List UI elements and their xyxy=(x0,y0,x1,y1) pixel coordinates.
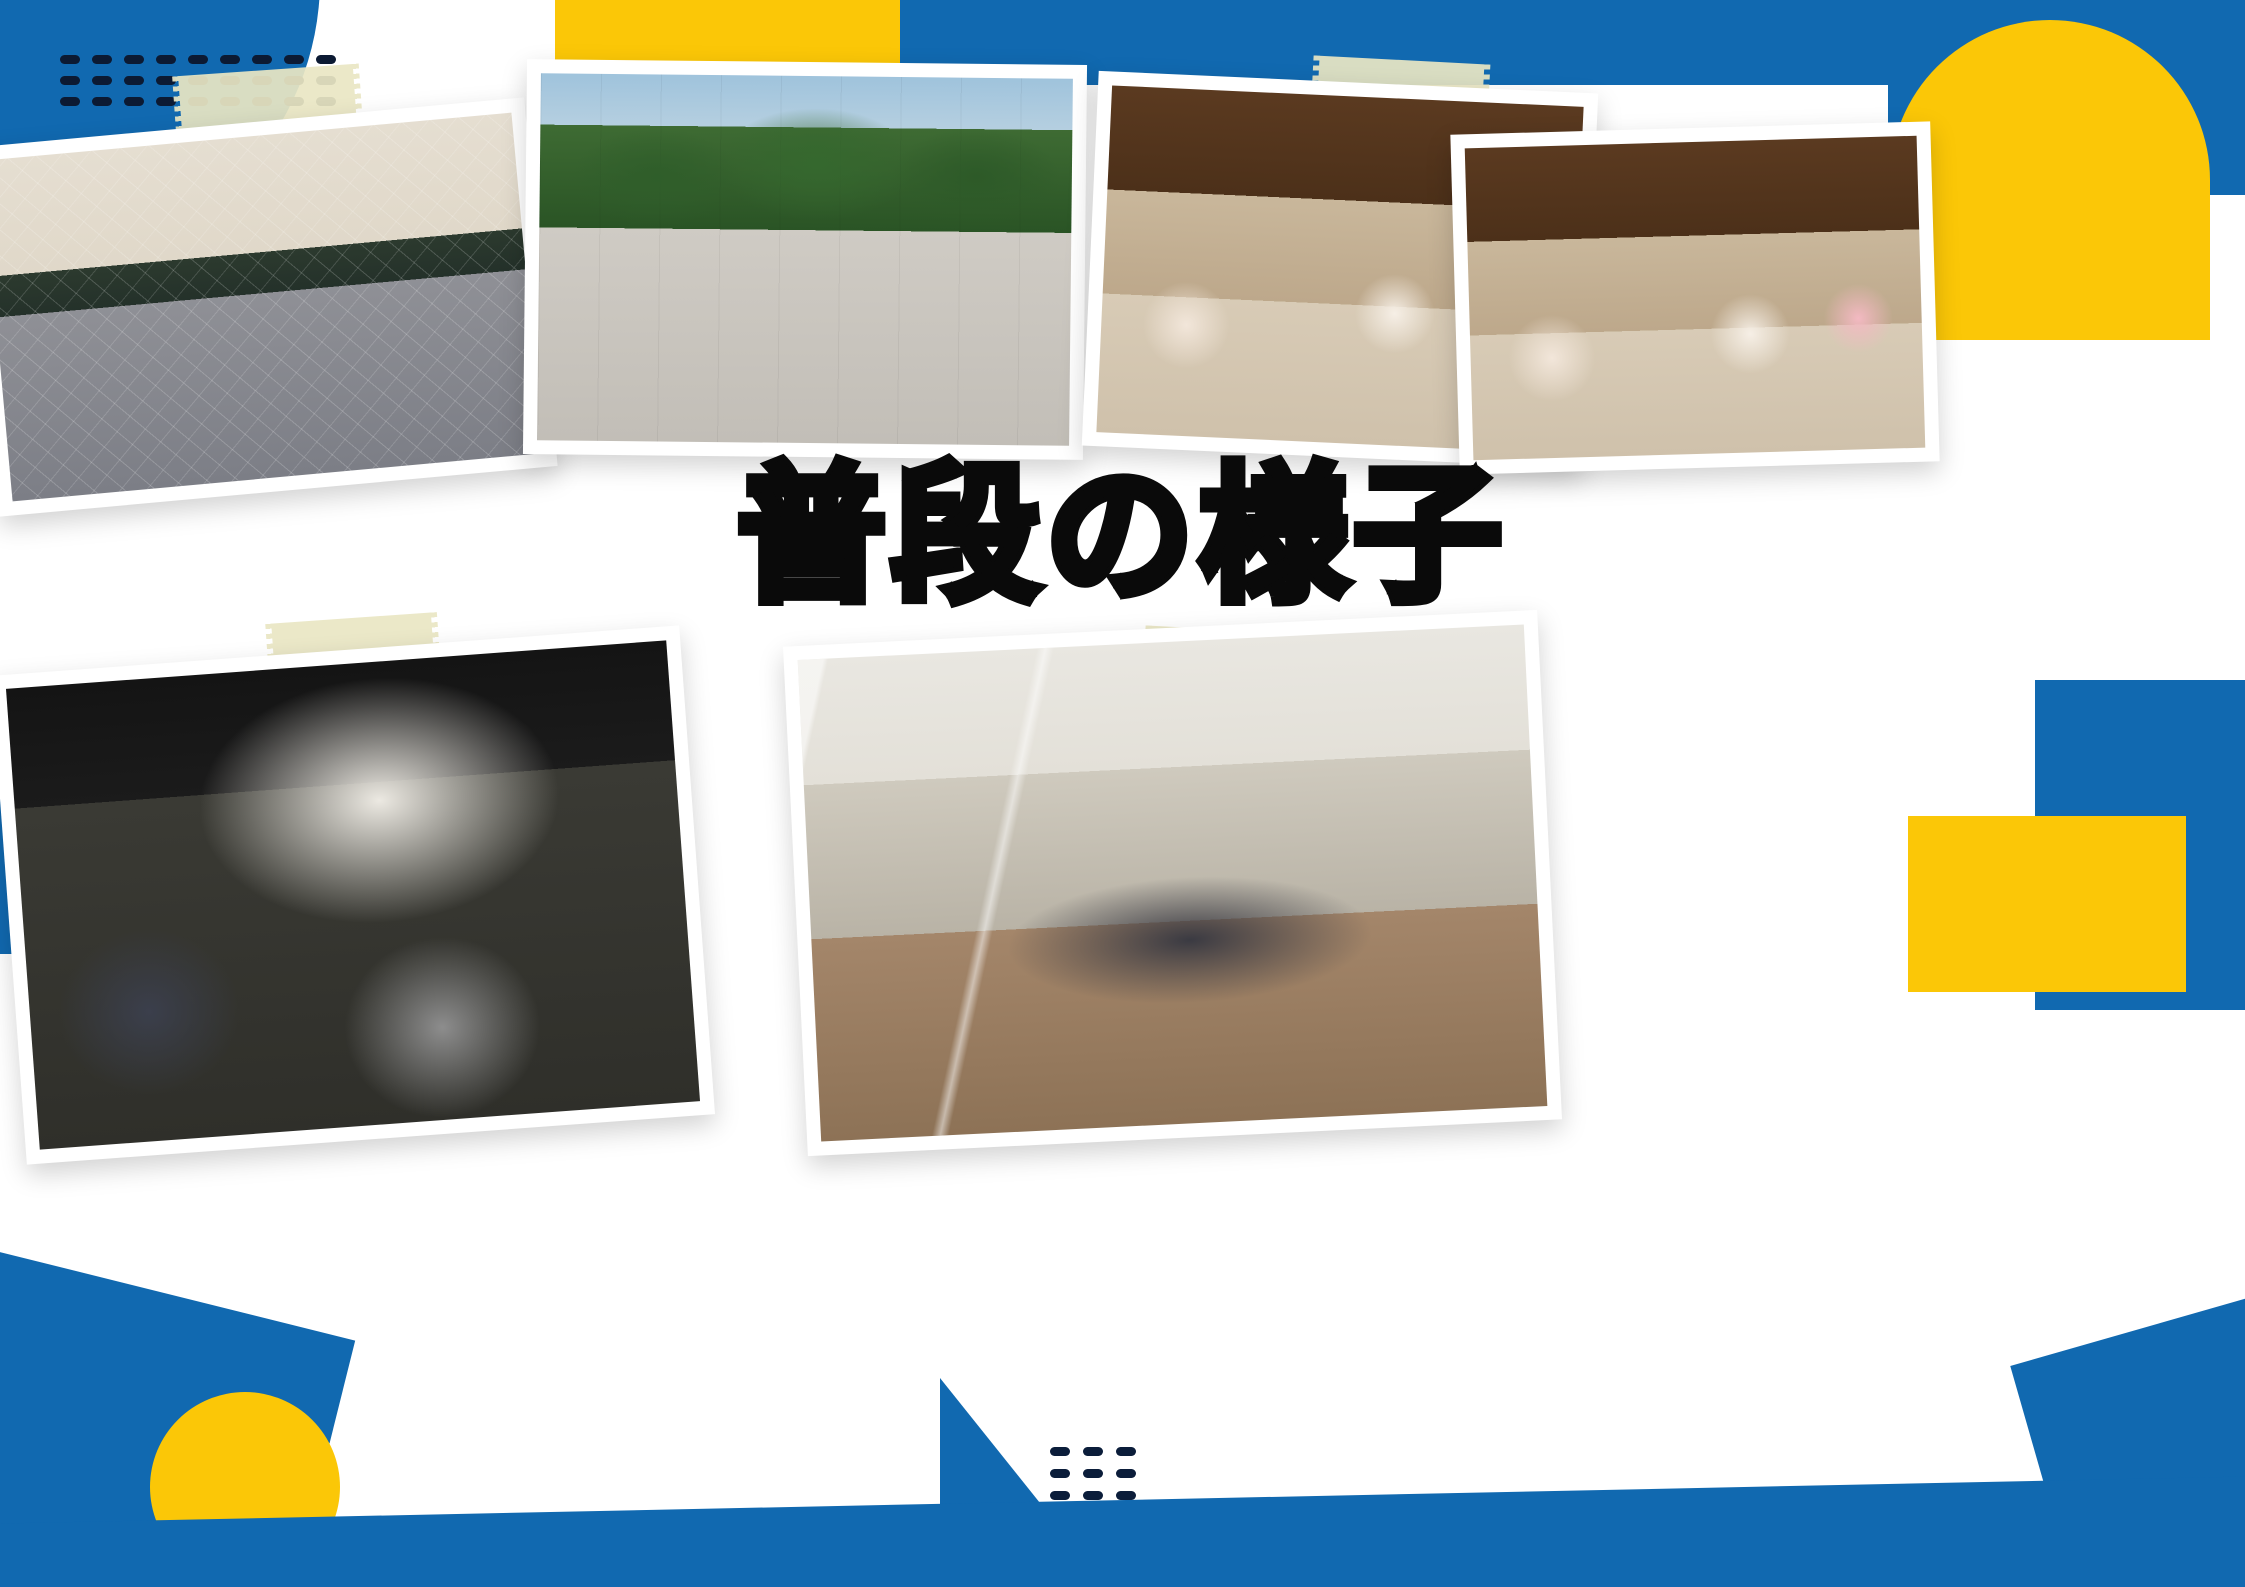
dot xyxy=(92,55,112,64)
photo-craft-workshop-front xyxy=(1465,136,1926,460)
dot xyxy=(92,76,112,85)
yellow-rect-right-shape xyxy=(1908,816,2186,992)
dot xyxy=(1116,1469,1136,1478)
photo-card-recycling-booth xyxy=(0,97,558,516)
dot xyxy=(124,55,144,64)
dot xyxy=(284,55,304,64)
dot xyxy=(60,55,80,64)
dot xyxy=(1050,1491,1070,1500)
dot xyxy=(1116,1491,1136,1500)
photo-campus-group xyxy=(537,73,1073,446)
page-title: 普段の様子 xyxy=(0,462,2245,610)
dot xyxy=(156,55,176,64)
dot xyxy=(60,76,80,85)
dot xyxy=(1083,1491,1103,1500)
photo-card-craft-workshop xyxy=(1450,121,1939,474)
dot xyxy=(1050,1447,1070,1456)
dot xyxy=(220,55,240,64)
dot xyxy=(124,97,144,106)
dot xyxy=(1083,1469,1103,1478)
dot xyxy=(92,97,112,106)
dot xyxy=(252,55,272,64)
yellow-semicircle-top-right-shape xyxy=(1890,20,2210,340)
dot xyxy=(124,76,144,85)
dot xyxy=(1050,1469,1070,1478)
photo-card-night-meeting xyxy=(0,625,715,1164)
dot xyxy=(60,97,80,106)
photo-night-meeting xyxy=(6,640,700,1149)
photo-card-campus-group xyxy=(523,59,1087,460)
dot-grid-bottom-center xyxy=(1050,1447,1136,1500)
photo-cooking-room xyxy=(798,625,1548,1142)
photo-card-cooking-room xyxy=(783,610,1562,1156)
dot xyxy=(1083,1447,1103,1456)
photo-recycling-booth xyxy=(0,113,542,502)
dot xyxy=(188,55,208,64)
dot xyxy=(1116,1447,1136,1456)
dot xyxy=(316,55,336,64)
slide-canvas: 普段の様子 xyxy=(0,0,2245,1587)
